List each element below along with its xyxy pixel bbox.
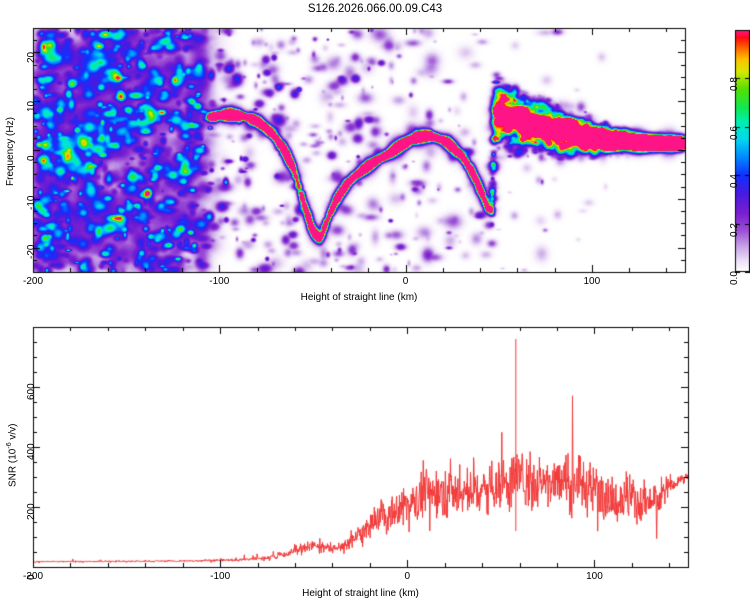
spectrogram-y-tick-label-1: -10	[27, 195, 37, 209]
spectrogram-x-axis-label: Height of straight line (km)	[33, 293, 685, 303]
spectrogram-x-tick-label-2: 0	[376, 277, 436, 287]
snr-y-axis-label-prefix: SNR (10	[7, 449, 18, 487]
snr-x-axis-label: Height of straight line (km)	[33, 589, 688, 599]
spectrogram-x-tick-label-0: -200	[3, 277, 63, 287]
colorbar-tick-label-0: 0.0	[730, 271, 740, 285]
colorbar-tick-label-4: 0.8	[730, 77, 740, 91]
snr-y-tick-label-3: 600	[27, 383, 37, 400]
snr-x-tick-label-3: 100	[564, 572, 624, 582]
snr-y-tick-label-1: 200	[27, 503, 37, 520]
spectrogram-x-tick-label-1: -100	[189, 277, 249, 287]
snr-x-tick-label-1: -100	[190, 572, 250, 582]
spectrogram-y-tick-label-4: 20	[27, 52, 37, 63]
snr-y-tick-label-0: 0	[27, 574, 37, 580]
colorbar-tick-label-3: 0.6	[730, 126, 740, 140]
snr-y-axis-label-suffix: v/v)	[7, 424, 18, 443]
figure-title: S126.2026.066.00.09.C43	[0, 4, 750, 16]
figure-root: S126.2026.066.00.09.C43 Height of straig…	[0, 0, 750, 600]
colorbar-tick-label-1: 0.2	[730, 223, 740, 237]
spectrogram-y-tick-label-3: 10	[27, 101, 37, 112]
snr-y-axis-label-exponent: -6	[6, 442, 13, 448]
spectrogram-y-axis-label: Frequency (Hz)	[6, 117, 16, 186]
spectrogram-x-tick-label-3: 100	[562, 277, 622, 287]
spectrogram-y-tick-label-0: -20	[27, 244, 37, 258]
colorbar-tick-label-2: 0.4	[730, 174, 740, 188]
snr-x-tick-label-2: 0	[377, 572, 437, 582]
snr-y-tick-label-2: 400	[27, 443, 37, 460]
spectrogram-y-tick-label-2: 0	[27, 155, 37, 161]
snr-y-axis-label: SNR (10-6 v/v)	[6, 424, 18, 487]
